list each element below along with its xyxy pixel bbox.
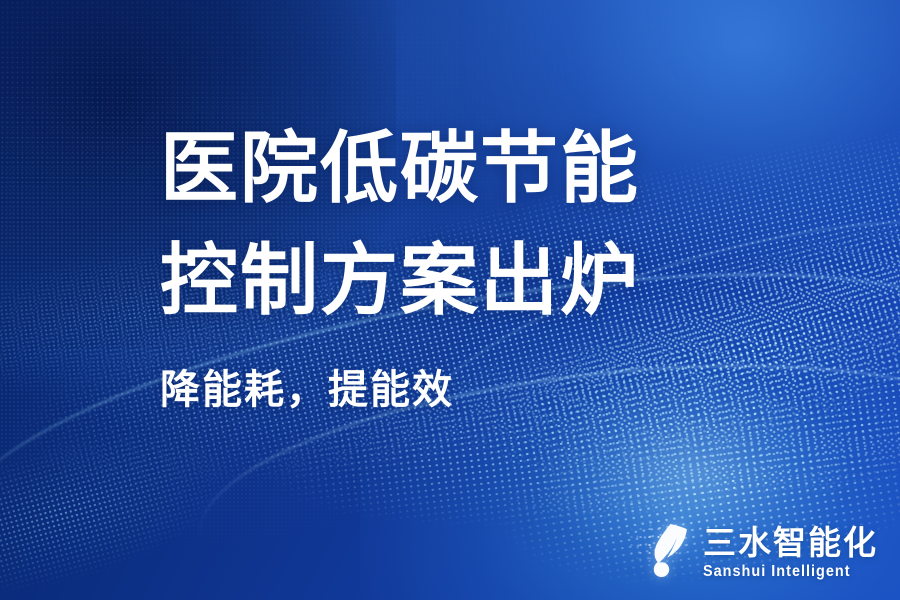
brand-logo: 三水智能化 Sanshui Intelligent bbox=[645, 523, 878, 582]
headline-line-2: 控制方案出炉 bbox=[160, 224, 800, 336]
water-drop-icon bbox=[645, 523, 693, 577]
logo-company-name-en: Sanshui Intelligent bbox=[703, 564, 851, 580]
poster-banner: 医院低碳节能 控制方案出炉 降能耗，提能效 三水智能化 Sanshui Inte… bbox=[0, 0, 900, 600]
subheadline: 降能耗，提能效 bbox=[160, 366, 800, 414]
headline-line-1: 医院低碳节能 bbox=[160, 112, 800, 224]
logo-text-block: 三水智能化 Sanshui Intelligent bbox=[703, 526, 878, 580]
logo-mark-wrap bbox=[645, 523, 693, 582]
logo-company-name-cn: 三水智能化 bbox=[703, 526, 878, 559]
headline-block: 医院低碳节能 控制方案出炉 降能耗，提能效 bbox=[160, 112, 800, 414]
